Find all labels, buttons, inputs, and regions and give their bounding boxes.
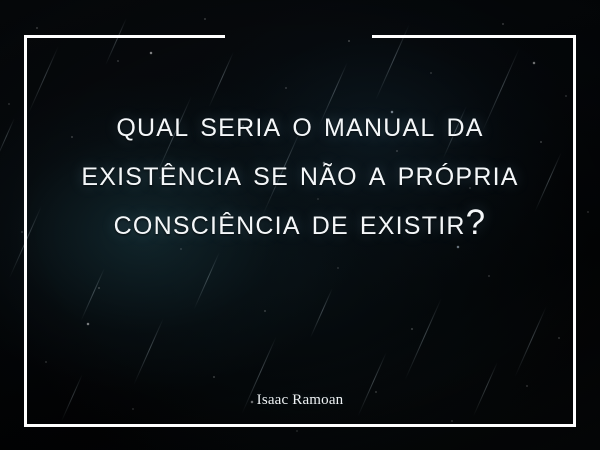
quote-poster: Qual seria o manual da existência se não… <box>0 0 600 450</box>
frame-bottom-border <box>24 424 576 427</box>
frame-right-border <box>573 35 576 427</box>
quote-author: Isaac Ramoan <box>27 392 573 409</box>
quote-content: Qual seria o manual da existência se não… <box>27 38 573 424</box>
quote-text: Qual seria o manual da existência se não… <box>27 100 573 247</box>
